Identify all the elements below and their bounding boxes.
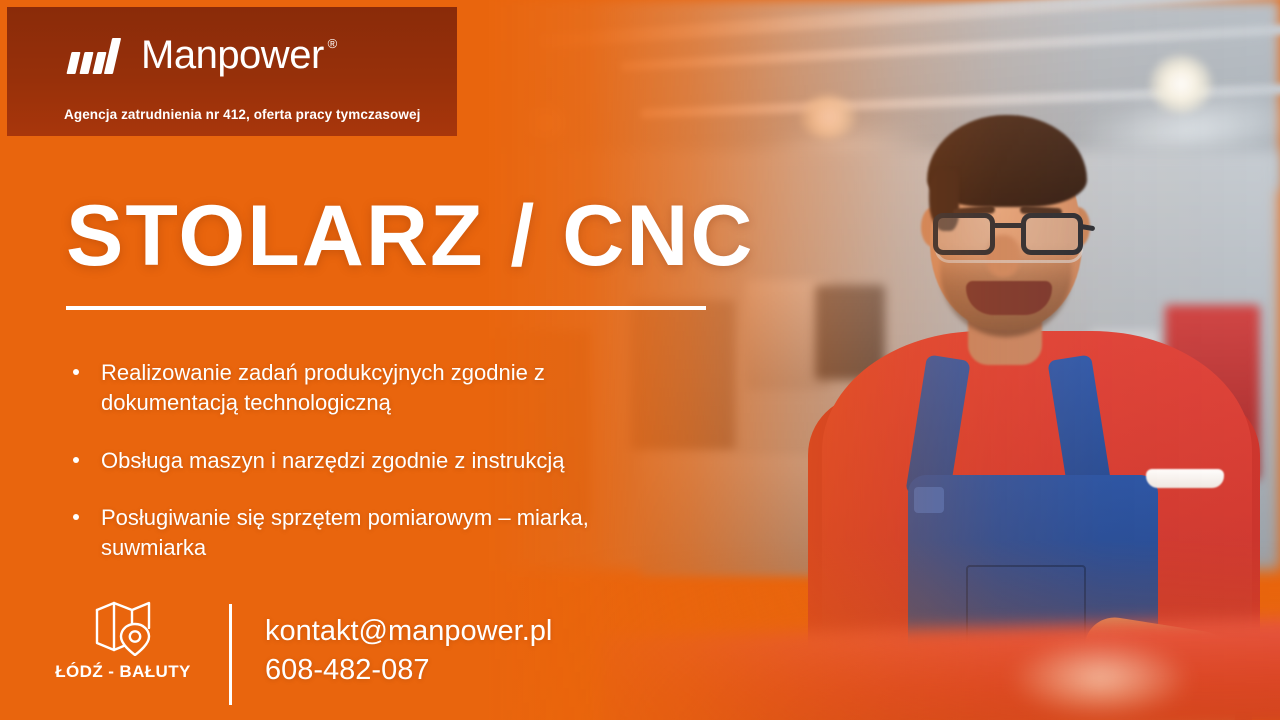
agency-disclaimer: Agencja zatrudnienia nr 412, oferta prac… [64,107,464,122]
brand-lockup: Manpower® [69,35,324,75]
contact-phone[interactable]: 608-482-087 [265,651,552,690]
list-item: Obsługa maszyn i narzędzi zgodnie z inst… [66,446,686,476]
responsibility-text: Posługiwanie się sprzętem pomiarowym – m… [101,503,686,564]
registered-trademark-mark: ® [328,37,337,50]
job-advertisement-poster: Manpower® Agencja zatrudnienia nr 412, o… [0,0,1280,720]
title-divider [66,306,706,310]
brand-logo-panel: Manpower® Agencja zatrudnienia nr 412, o… [7,7,457,136]
manpower-bars-logo-icon [69,36,127,74]
location-label: ŁÓDŹ - BAŁUTY [48,662,198,682]
job-title: STOLARZ / CNC [66,193,755,279]
list-item: Posługiwanie się sprzętem pomiarowym – m… [66,503,686,564]
poster-content: Manpower® Agencja zatrudnienia nr 412, o… [0,0,1280,720]
footer-divider [229,604,232,705]
list-item: Realizowanie zadań produkcyjnych zgodnie… [66,358,686,419]
responsibility-text: Obsługa maszyn i narzędzi zgodnie z inst… [101,446,686,476]
responsibility-text: Realizowanie zadań produkcyjnych zgodnie… [101,358,686,419]
map-pin-icon [93,598,153,656]
brand-name: Manpower® [141,35,324,75]
contact-details: kontakt@manpower.pl 608-482-087 [265,612,552,689]
contact-email[interactable]: kontakt@manpower.pl [265,612,552,651]
contact-footer: ŁÓDŹ - BAŁUTY kontakt@manpower.pl 608-48… [0,590,640,720]
location-block: ŁÓDŹ - BAŁUTY [48,598,198,682]
responsibilities-list: Realizowanie zadań produkcyjnych zgodnie… [66,358,686,564]
